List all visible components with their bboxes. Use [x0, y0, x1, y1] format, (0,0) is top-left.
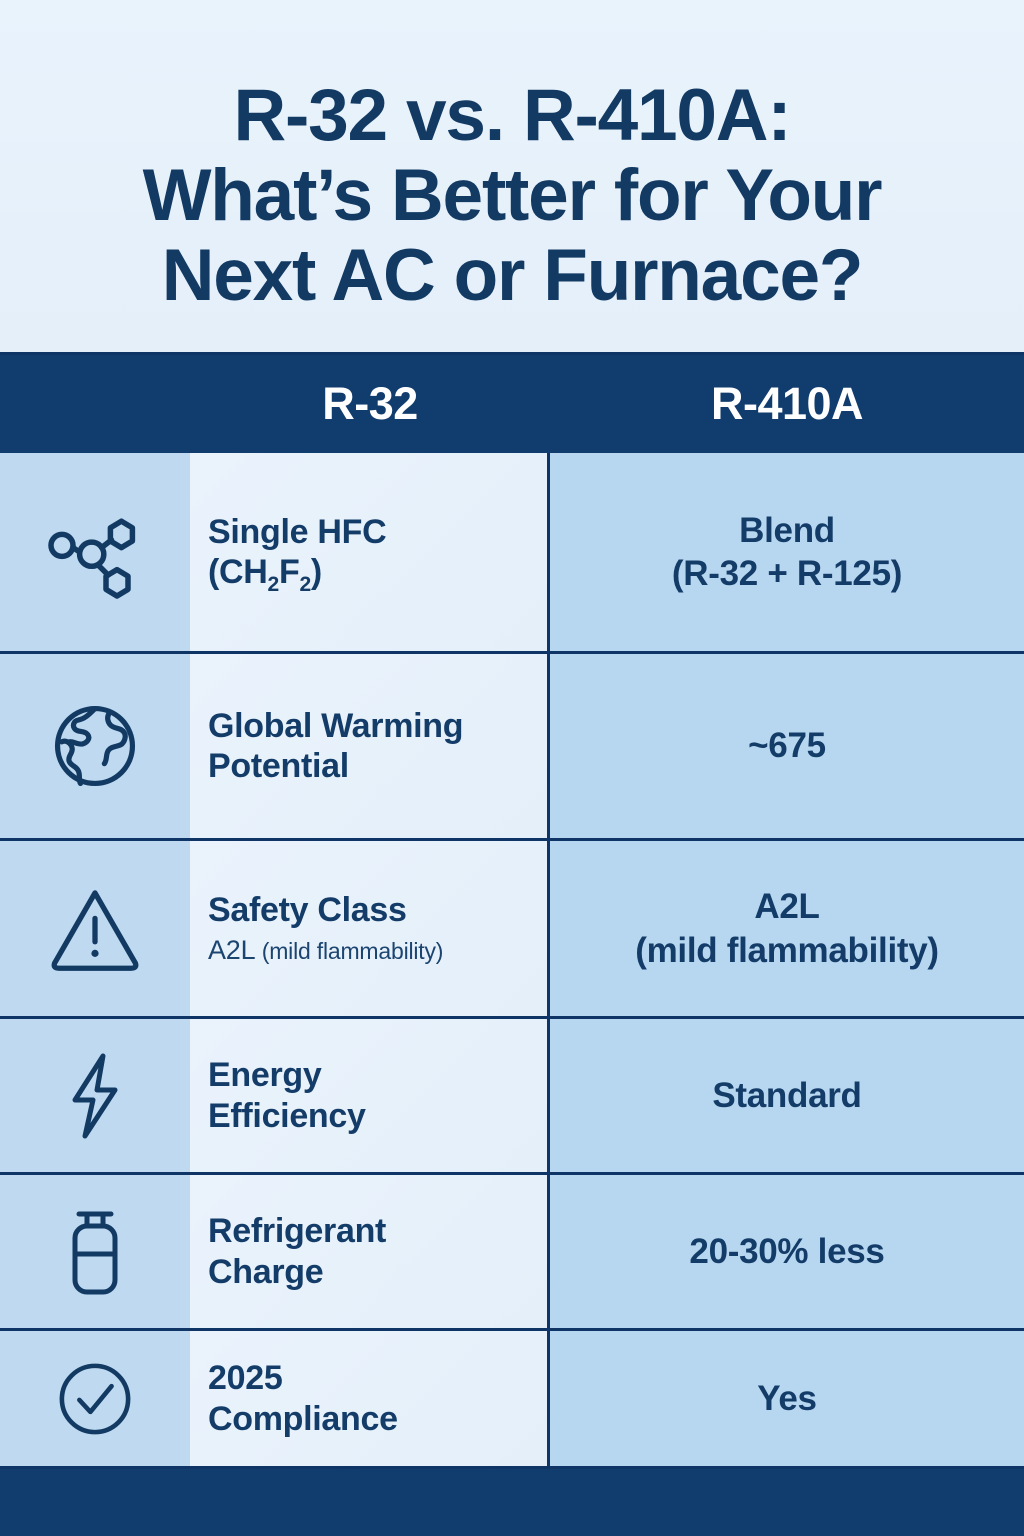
row-value-line-2: (R-32 + R-125) [672, 552, 902, 595]
row-value-line-1: A2L [754, 885, 819, 928]
row-value-cell-r410a: Blend (R-32 + R-125) [550, 453, 1024, 651]
table-row: Energy Efficiency Standard [0, 1019, 1024, 1175]
row-icon-cell [0, 453, 190, 651]
globe-icon [43, 694, 147, 798]
row-label: Single HFC [208, 512, 533, 552]
page-title: R-32 vs. R-410A: What’s Better for Your … [143, 76, 882, 317]
table-row: Single HFC (CH2F2) Blend (R-32 + R-125) [0, 453, 1024, 654]
row-label-line-2: Efficiency [208, 1096, 533, 1136]
row-label-cell: Safety Class A2L (mild flammability) [190, 841, 550, 1016]
row-label-formula: (CH2F2) [208, 552, 533, 592]
infographic-page: R-32 vs. R-410A: What’s Better for Your … [0, 0, 1024, 1536]
row-icon-cell [0, 1019, 190, 1172]
row-value-line-1: Yes [757, 1377, 816, 1420]
row-label-line-2: Charge [208, 1252, 533, 1292]
row-label-sub: A2L (mild flammability) [208, 934, 533, 966]
row-label: Safety Class [208, 890, 533, 930]
title-line-2: What’s Better for Your [143, 155, 882, 236]
molecule-icon [40, 497, 150, 607]
title-area: R-32 vs. R-410A: What’s Better for Your … [0, 0, 1024, 352]
row-label-cell: Global Warming Potential [190, 654, 550, 838]
row-label-line-1: Refrigerant [208, 1211, 533, 1251]
column-header-r32: R-32 [190, 378, 550, 430]
table-row: Refrigerant Charge 20-30% less [0, 1175, 1024, 1331]
safety-code: A2L [208, 935, 254, 965]
check-circle-icon [49, 1353, 141, 1445]
column-header-r410a: R-410A [550, 378, 1024, 430]
row-label-line-1: Global Warming [208, 706, 533, 746]
comparison-table: R-32 R-410A [0, 352, 1024, 1466]
row-value-line-1: 20-30% less [689, 1230, 884, 1273]
row-icon-cell [0, 1175, 190, 1328]
table-row: Safety Class A2L (mild flammability) A2L… [0, 841, 1024, 1019]
title-line-3: Next AC or Furnace? [162, 235, 863, 316]
row-icon-cell [0, 654, 190, 838]
row-value-line-1: ~675 [748, 724, 826, 767]
footer-bar [0, 1466, 1024, 1536]
row-label-line-1: Energy [208, 1055, 533, 1095]
row-value-cell-r410a: A2L (mild flammability) [550, 841, 1024, 1016]
row-icon-cell [0, 1331, 190, 1466]
lightning-bolt-icon [45, 1046, 145, 1146]
safety-note: (mild flammability) [262, 938, 444, 964]
warning-triangle-icon [42, 876, 148, 982]
row-label-cell: Single HFC (CH2F2) [190, 453, 550, 651]
gas-cylinder-icon [45, 1202, 145, 1302]
row-value-cell-r410a: 20-30% less [550, 1175, 1024, 1328]
row-label-line-2: Compliance [208, 1399, 533, 1439]
table-header-row: R-32 R-410A [0, 355, 1024, 453]
row-label-cell: Refrigerant Charge [190, 1175, 550, 1328]
row-value-cell-r410a: Yes [550, 1331, 1024, 1466]
row-value-line-1: Blend [739, 509, 835, 552]
row-value-cell-r410a: Standard [550, 1019, 1024, 1172]
row-value-cell-r410a: ~675 [550, 654, 1024, 838]
row-label-cell: Energy Efficiency [190, 1019, 550, 1172]
table-row: Global Warming Potential ~675 [0, 654, 1024, 841]
row-icon-cell [0, 841, 190, 1016]
row-value-line-1: Standard [712, 1074, 861, 1117]
table-row: 2025 Compliance Yes [0, 1331, 1024, 1466]
row-value-line-2: (mild flammability) [635, 929, 939, 972]
row-label-line-1: 2025 [208, 1358, 533, 1398]
row-label-line-2: Potential [208, 746, 533, 786]
row-label-cell: 2025 Compliance [190, 1331, 550, 1466]
title-line-1: R-32 vs. R-410A: [234, 75, 791, 156]
